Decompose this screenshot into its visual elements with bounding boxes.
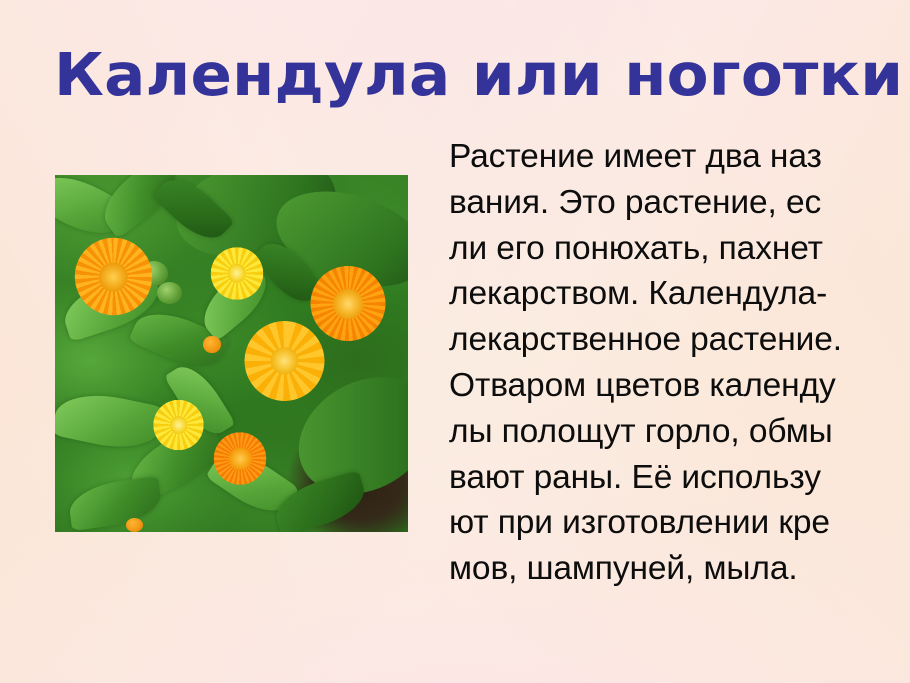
flower-center: [228, 264, 247, 283]
text-line: Растение имеет два наз: [449, 134, 901, 180]
text-line: вания. Это растение, ес: [449, 180, 901, 226]
photo-canvas: [55, 175, 408, 532]
body-paragraph: Растение имеет два наз вания. Это растен…: [449, 134, 901, 592]
text-line: мов, шампуней, мыла.: [449, 546, 901, 592]
flower-gold-center: [228, 304, 341, 418]
flower-center: [333, 289, 363, 319]
flower-center: [99, 262, 127, 291]
presentation-slide: Календула или ноготки:: [0, 0, 910, 683]
flower-bud: [126, 518, 144, 532]
text-line: лекарственное растение.: [449, 317, 901, 363]
flower-center: [170, 416, 188, 434]
text-line: лекарством. Календула-: [449, 271, 901, 317]
slide-title: Календула или ноготки:: [54, 44, 894, 107]
text-line: лы полощут горло, обмы: [449, 409, 901, 455]
text-line: вают раны. Её использу: [449, 455, 901, 501]
text-line: ют при изготовлении кре: [449, 500, 901, 546]
flower-yellow-top: [200, 236, 274, 311]
flower-orange-large: [59, 221, 168, 332]
flower-bud: [203, 336, 221, 354]
text-line: Отваром цветов календу: [449, 363, 901, 409]
calendula-photo: [55, 175, 408, 532]
text-line: ли его понюхать, пахнет: [449, 226, 901, 272]
